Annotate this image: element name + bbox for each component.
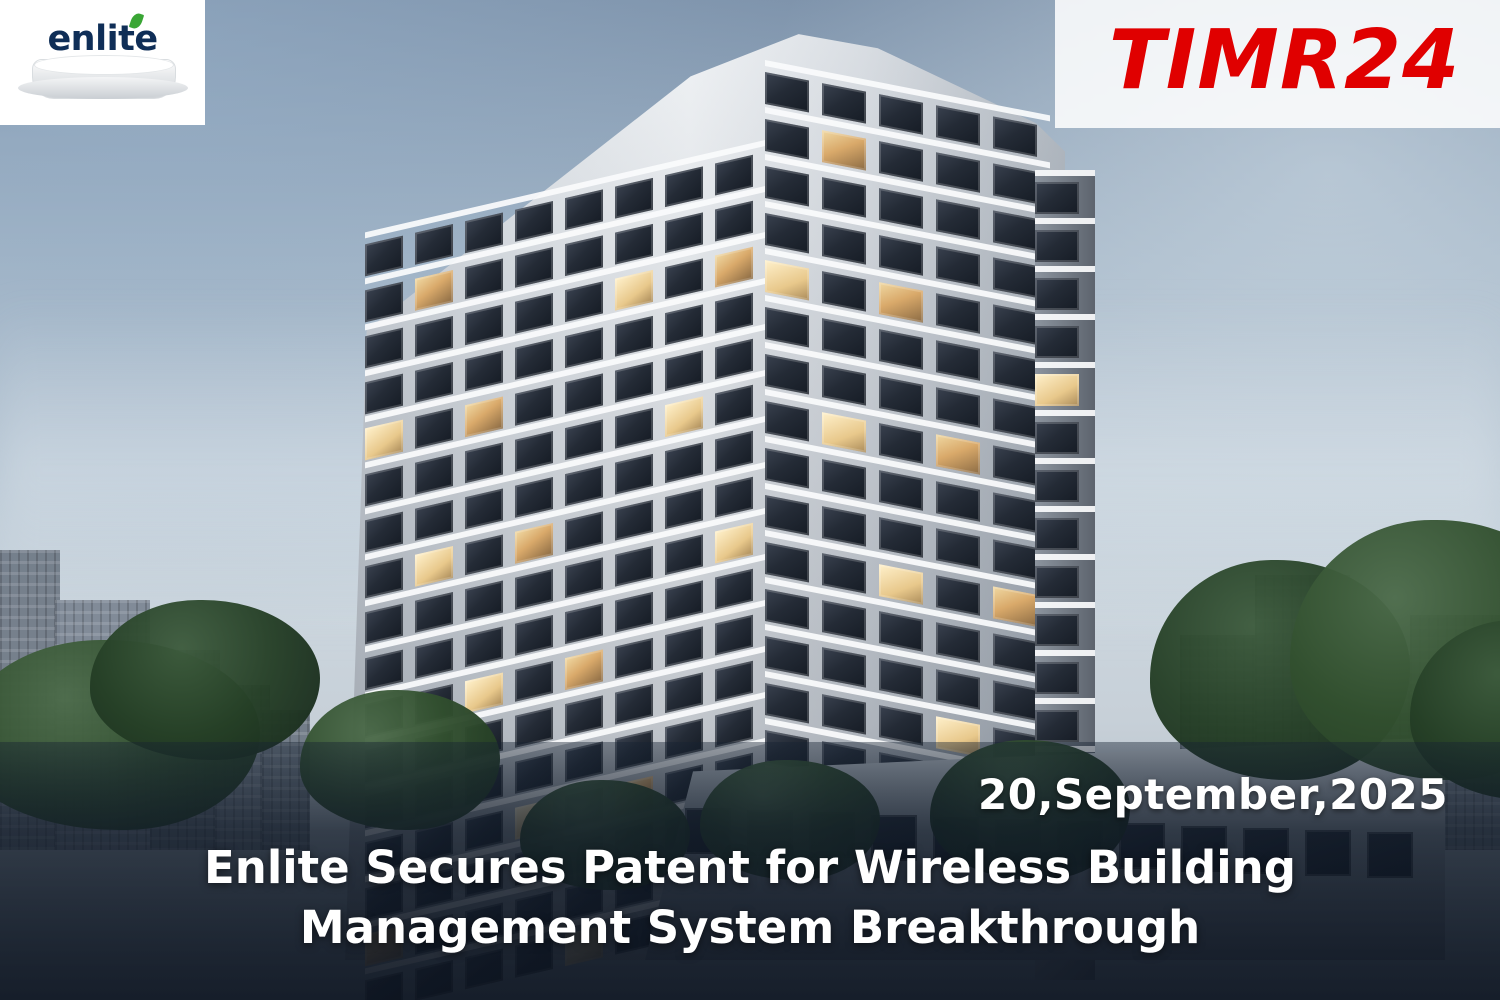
tower-window <box>879 423 923 464</box>
tower-window <box>879 658 923 699</box>
tower-window <box>879 94 923 135</box>
tower-window <box>1035 710 1079 742</box>
tower-window <box>936 387 980 428</box>
tower-floor <box>1035 458 1095 508</box>
tower-window <box>822 224 866 265</box>
tower-window <box>822 459 866 500</box>
tower-window <box>936 340 980 381</box>
tree <box>90 600 320 760</box>
tower-window <box>936 293 980 334</box>
tower-window <box>1035 278 1079 310</box>
tower-floor <box>1035 266 1095 316</box>
tower-window <box>822 412 866 453</box>
tower-window <box>1035 518 1079 550</box>
leaf-icon <box>128 12 143 31</box>
tower-floor <box>1035 170 1095 220</box>
tower-window <box>936 152 980 193</box>
tower-window <box>936 434 980 475</box>
tower-window <box>765 589 809 630</box>
tower-window <box>879 517 923 558</box>
brand-logo[interactable]: enlite <box>0 0 205 125</box>
tower-window <box>879 141 923 182</box>
tower-floor <box>1035 602 1095 652</box>
tower-window <box>822 130 866 171</box>
publish-date: 20,September,2025 <box>978 770 1448 819</box>
tower-window <box>1035 230 1079 262</box>
tower-window <box>993 445 1037 486</box>
headline: Enlite Secures Patent for Wireless Build… <box>0 838 1500 959</box>
tower-window <box>993 116 1037 157</box>
tower-window <box>1035 470 1079 502</box>
tower-window <box>765 166 809 207</box>
tower-window <box>993 539 1037 580</box>
tower-window <box>1035 614 1079 646</box>
tower-window <box>765 448 809 489</box>
tower-window <box>879 470 923 511</box>
tower-window <box>879 235 923 276</box>
tower-window <box>822 177 866 218</box>
tower-window <box>765 542 809 583</box>
publication-badge-label: TIMR24 <box>1095 20 1460 108</box>
tower-window <box>765 307 809 348</box>
tower-window <box>993 398 1037 439</box>
tower-window <box>765 636 809 677</box>
tower-window <box>936 528 980 569</box>
tower-window <box>822 318 866 359</box>
publication-badge[interactable]: TIMR24 <box>1055 0 1500 128</box>
tower-window <box>765 213 809 254</box>
tower-window <box>936 199 980 240</box>
tower-window <box>1035 374 1079 406</box>
tower-window <box>936 622 980 663</box>
tower-window <box>822 506 866 547</box>
tower-floor <box>1035 410 1095 460</box>
tower-window <box>765 683 809 724</box>
tower-floor <box>1035 650 1095 700</box>
headline-line-2: Management System Breakthrough <box>300 901 1200 954</box>
tower-floor <box>1035 314 1095 364</box>
headline-line-1: Enlite Secures Patent for Wireless Build… <box>204 841 1296 894</box>
tower-window <box>879 329 923 370</box>
tower-window <box>1035 326 1079 358</box>
tower-window <box>936 669 980 710</box>
tower-window <box>936 246 980 287</box>
tower-floor <box>1035 218 1095 268</box>
tower-window <box>993 492 1037 533</box>
tower-window <box>765 401 809 442</box>
tower-window <box>936 481 980 522</box>
tower-floor <box>1035 362 1095 412</box>
tower-window <box>822 365 866 406</box>
tower-window <box>993 257 1037 298</box>
tower-window <box>765 495 809 536</box>
tower-window <box>1035 662 1079 694</box>
tower-window <box>822 600 866 641</box>
tower-window <box>822 694 866 735</box>
tower-window <box>936 105 980 146</box>
tower-window <box>879 188 923 229</box>
brand-name: enlite <box>47 22 157 57</box>
tower-window <box>993 163 1037 204</box>
tower-window <box>993 210 1037 251</box>
tower-window <box>993 586 1037 627</box>
tower-window <box>993 680 1037 721</box>
tower-window <box>765 119 809 160</box>
dish-light-icon <box>18 59 188 103</box>
tower-window <box>879 564 923 605</box>
tower-window <box>822 647 866 688</box>
tower-window <box>1035 422 1079 454</box>
tower-floor <box>1035 554 1095 604</box>
tower-window <box>936 575 980 616</box>
tower-window <box>765 354 809 395</box>
news-card: enlite TIMR24 20,September,2025 Enlite S… <box>0 0 1500 1000</box>
tower-window <box>993 633 1037 674</box>
tower-window <box>1035 182 1079 214</box>
tower-window <box>822 553 866 594</box>
tower-window <box>879 282 923 323</box>
tower-window <box>1035 566 1079 598</box>
tower-window <box>765 260 809 301</box>
tower-window <box>879 611 923 652</box>
caption-bar: 20,September,2025 Enlite Secures Patent … <box>0 742 1500 1000</box>
tower-window <box>822 83 866 124</box>
tower-floor <box>1035 506 1095 556</box>
tower-window <box>879 376 923 417</box>
tower-window <box>993 351 1037 392</box>
tower-window <box>993 304 1037 345</box>
tower-window <box>765 72 809 113</box>
tower-window <box>822 271 866 312</box>
